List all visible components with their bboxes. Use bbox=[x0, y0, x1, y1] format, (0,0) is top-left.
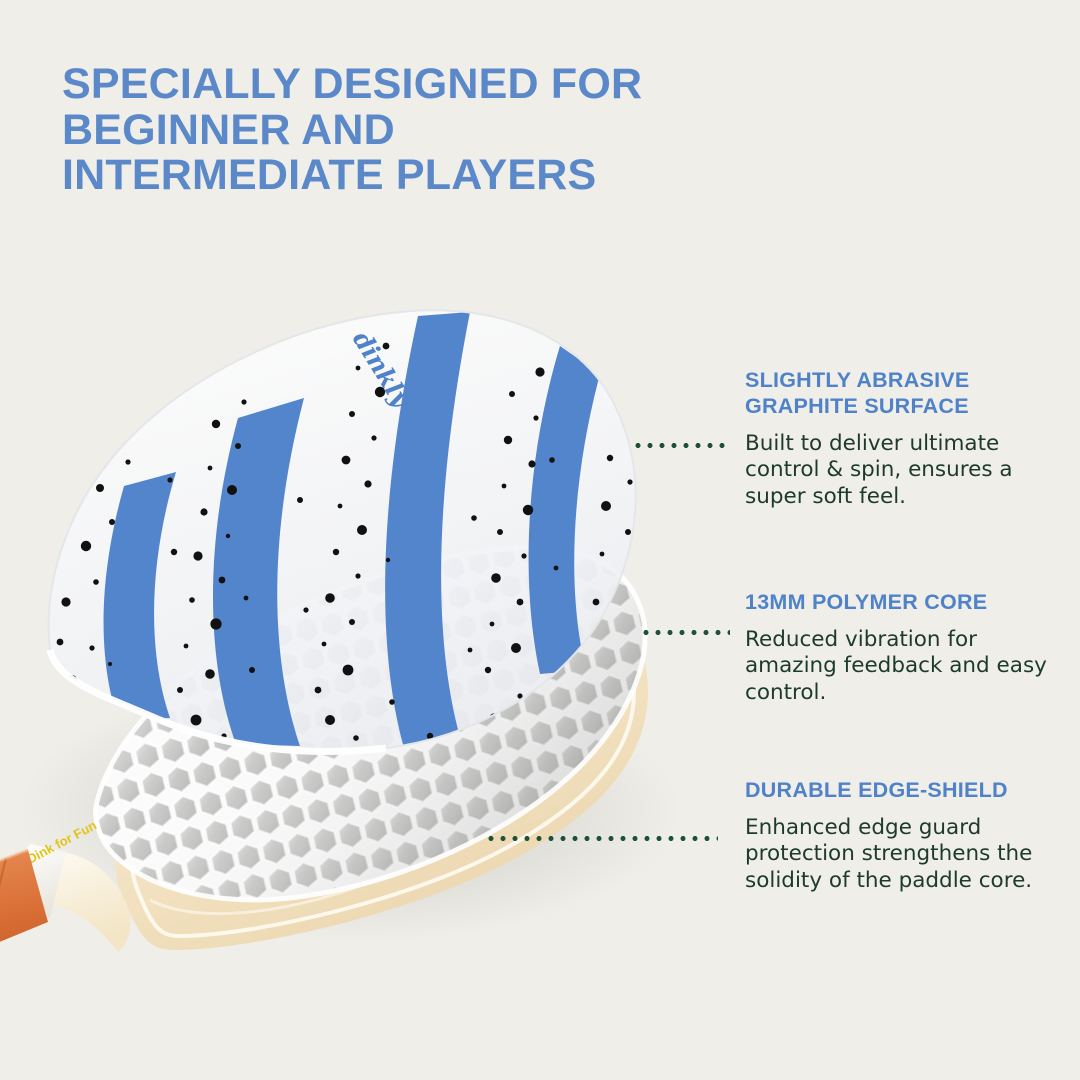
callout-title: DURABLE EDGE-SHIELD bbox=[745, 778, 1065, 804]
callout-body: Built to deliver ultimate control & spin… bbox=[745, 431, 1065, 511]
leader-line-edge-shield bbox=[485, 836, 718, 841]
callout-body: Enhanced edge guard protection strengthe… bbox=[745, 815, 1065, 895]
callout-polymer-core: 13MM POLYMER CORE Reduced vibration for … bbox=[745, 590, 1065, 707]
leader-line-graphite-surface bbox=[632, 443, 730, 448]
infographic-canvas: SPECIALLY DESIGNED FOR BEGINNER AND INTE… bbox=[0, 0, 1080, 1080]
headline-line-2: BEGINNER AND bbox=[62, 108, 782, 154]
callout-edge-shield: DURABLE EDGE-SHIELD Enhanced edge guard … bbox=[745, 778, 1065, 895]
leader-line-polymer-core bbox=[640, 630, 730, 635]
callout-title: SLIGHTLY ABRASIVE GRAPHITE SURFACE bbox=[745, 368, 1065, 420]
headline-line-1: SPECIALLY DESIGNED FOR bbox=[62, 62, 782, 108]
callout-body: Reduced vibration for amazing feedback a… bbox=[745, 627, 1065, 707]
paddle-illustration: dinkly Dink for Fun bbox=[0, 250, 760, 990]
callout-title: 13MM POLYMER CORE bbox=[745, 590, 1065, 616]
headline-line-3: INTERMEDIATE PLAYERS bbox=[62, 153, 782, 199]
page-title: SPECIALLY DESIGNED FOR BEGINNER AND INTE… bbox=[62, 62, 782, 199]
callout-graphite-surface: SLIGHTLY ABRASIVE GRAPHITE SURFACE Built… bbox=[745, 368, 1065, 511]
